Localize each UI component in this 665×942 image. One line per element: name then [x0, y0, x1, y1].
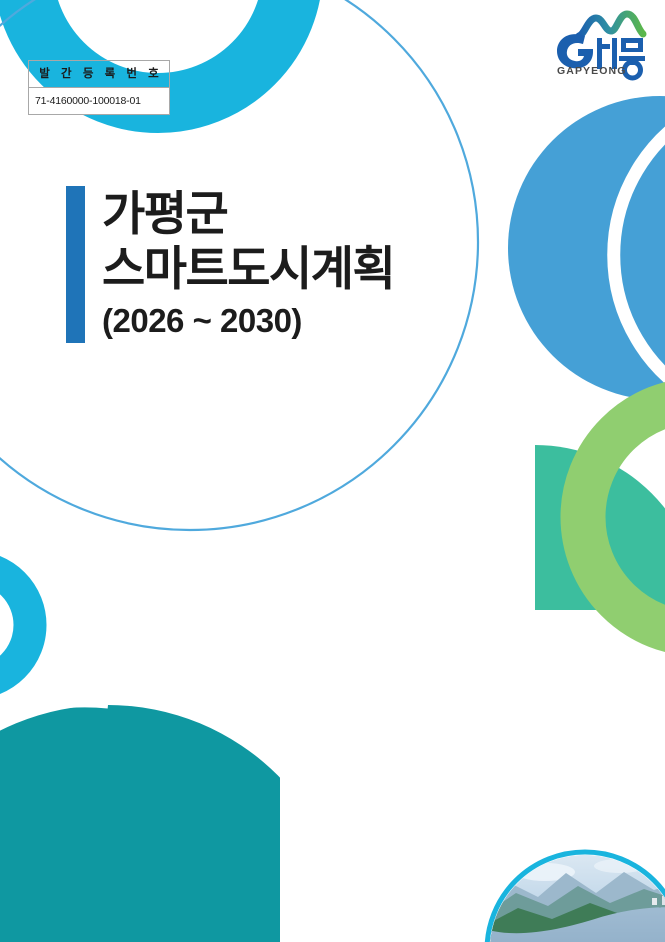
bottom-left-teal-circle [0, 700, 280, 942]
bottom-left-cyan-ring [0, 567, 30, 683]
gapyeong-logo: GAPYEONG [551, 6, 653, 82]
background-decoration [0, 0, 665, 942]
publication-number: 71-4160000-100018-01 [28, 88, 170, 115]
document-cover: 발 간 등 록 번 호 71-4160000-100018-01 가평군 스마트… [0, 0, 665, 942]
page-title-line-2: 스마트도시계획 [102, 241, 394, 296]
logo-letter-g [557, 34, 593, 68]
plan-period: (2026 ~ 2030) [102, 299, 394, 344]
logo-romanized-label: GAPYEONG [557, 65, 626, 77]
title-block: 가평군 스마트도시계획 (2026 ~ 2030) [66, 186, 394, 343]
title-accent-bar [66, 186, 85, 343]
logo-mountain-wave-icon [579, 14, 643, 36]
title-text-wrap: 가평군 스마트도시계획 (2026 ~ 2030) [102, 186, 394, 343]
right-green-arcs [535, 400, 665, 638]
gapyeong-logo-mark: GAPYEONG [551, 6, 653, 82]
right-blue-circle [480, 80, 665, 430]
publication-label: 발 간 등 록 번 호 [28, 60, 170, 88]
landscape-photo-circle [487, 850, 665, 942]
page-title-line-1: 가평군 [102, 186, 394, 241]
publication-registration-box: 발 간 등 록 번 호 71-4160000-100018-01 [28, 60, 170, 115]
